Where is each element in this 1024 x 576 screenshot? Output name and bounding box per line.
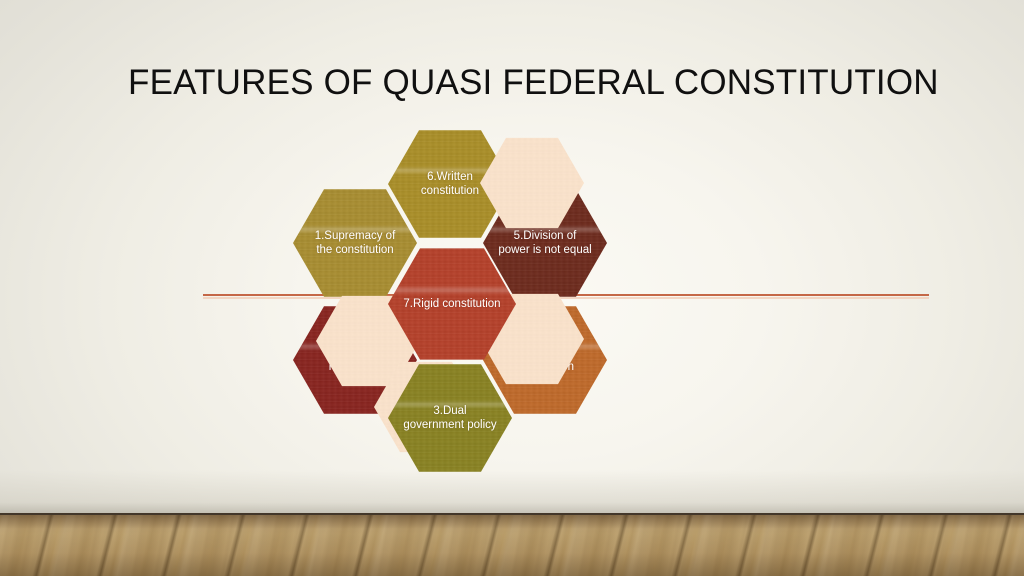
wall-floor-shadow [0,470,1024,516]
hexagon-label: 7.Rigid constitution [389,297,514,312]
presentation-slide: FEATURES OF QUASI FEDERAL CONSTITUTION 6… [0,0,1024,576]
floor-sheen [0,515,1024,576]
hexagon-supremacy-of-the-constitution[interactable]: 1.Supremacy of the constitution [293,187,417,299]
page-title: FEATURES OF QUASI FEDERAL CONSTITUTION [128,61,928,105]
honeycomb-diagram: 6.Written constitution 1.Supremacy of th… [280,122,640,472]
hexagon-label: 5.Division of power is not equal [483,229,607,258]
hexagon-label: 3.Dual government policy [388,404,512,433]
wooden-floor [0,513,1024,576]
hex-highlight-band [388,285,516,294]
hexagon-label: 1.Supremacy of the constitution [293,229,417,258]
